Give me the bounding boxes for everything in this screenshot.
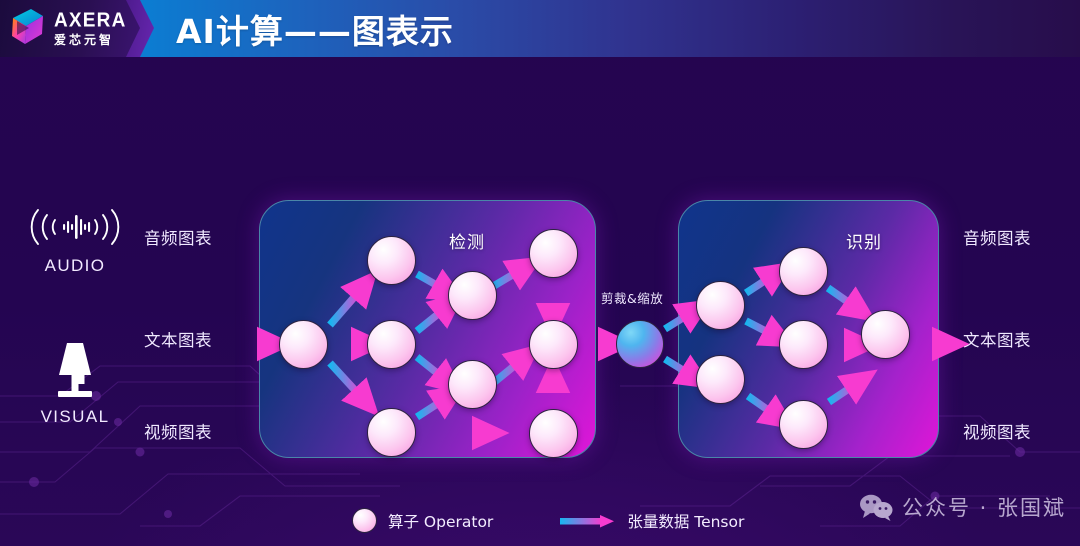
page-title: AI计算——图表示 bbox=[176, 0, 454, 57]
logo-text-cn: 爱芯元智 bbox=[54, 34, 127, 46]
operator-node[interactable] bbox=[367, 408, 416, 457]
output-label-video: 视频图表 bbox=[963, 419, 1031, 443]
stage-detect-title: 检测 bbox=[449, 228, 485, 253]
input-label-text: 文本图表 bbox=[144, 327, 212, 351]
legend-item-operator: 算子 Operator bbox=[352, 508, 493, 533]
wechat-watermark: 公众号 · 张国斌 bbox=[859, 492, 1066, 522]
operator-node-icon bbox=[352, 508, 377, 533]
sound-wave-icon bbox=[20, 205, 130, 249]
modality-visual: VISUAL bbox=[20, 338, 130, 427]
tensor-arrow-icon bbox=[560, 513, 616, 529]
operator-node[interactable] bbox=[448, 360, 497, 409]
output-label-audio: 音频图表 bbox=[963, 225, 1031, 249]
output-label-text: 文本图表 bbox=[963, 327, 1031, 351]
wechat-icon bbox=[859, 493, 893, 521]
legend-tensor-label: 张量数据 Tensor bbox=[627, 510, 744, 532]
brand-logo[interactable]: AXERA 爱芯元智 bbox=[9, 7, 127, 49]
crop-scale-node[interactable] bbox=[616, 320, 664, 368]
operator-node[interactable] bbox=[367, 320, 416, 369]
operator-node[interactable] bbox=[529, 229, 578, 278]
stage-recognize-title: 识别 bbox=[846, 228, 882, 253]
legend-operator-label: 算子 Operator bbox=[388, 510, 493, 532]
operator-node[interactable] bbox=[367, 236, 416, 285]
legend-item-tensor: 张量数据 Tensor bbox=[560, 510, 744, 532]
modality-audio: AUDIO bbox=[20, 205, 130, 276]
lamp-icon bbox=[20, 338, 130, 400]
connector-label: 剪裁&缩放 bbox=[601, 288, 663, 307]
operator-node[interactable] bbox=[529, 409, 578, 458]
operator-node[interactable] bbox=[779, 400, 828, 449]
modality-visual-label: VISUAL bbox=[20, 407, 130, 427]
operator-node[interactable] bbox=[696, 355, 745, 404]
operator-node[interactable] bbox=[529, 320, 578, 369]
operator-node[interactable] bbox=[448, 271, 497, 320]
operator-node[interactable] bbox=[696, 281, 745, 330]
logo-text-en: AXERA bbox=[54, 10, 127, 30]
input-label-audio: 音频图表 bbox=[144, 225, 212, 249]
operator-node[interactable] bbox=[861, 310, 910, 359]
operator-node[interactable] bbox=[779, 320, 828, 369]
operator-node[interactable] bbox=[279, 320, 328, 369]
operator-node[interactable] bbox=[779, 247, 828, 296]
header-banner: AXERA 爱芯元智 AI计算——图表示 bbox=[0, 0, 1080, 57]
watermark-text: 公众号 · 张国斌 bbox=[902, 492, 1066, 522]
input-label-video: 视频图表 bbox=[144, 419, 212, 443]
legend: 算子 Operator 张量数据 Tensor bbox=[352, 508, 744, 533]
axera-diamond-icon bbox=[9, 7, 49, 49]
modality-audio-label: AUDIO bbox=[20, 256, 130, 276]
